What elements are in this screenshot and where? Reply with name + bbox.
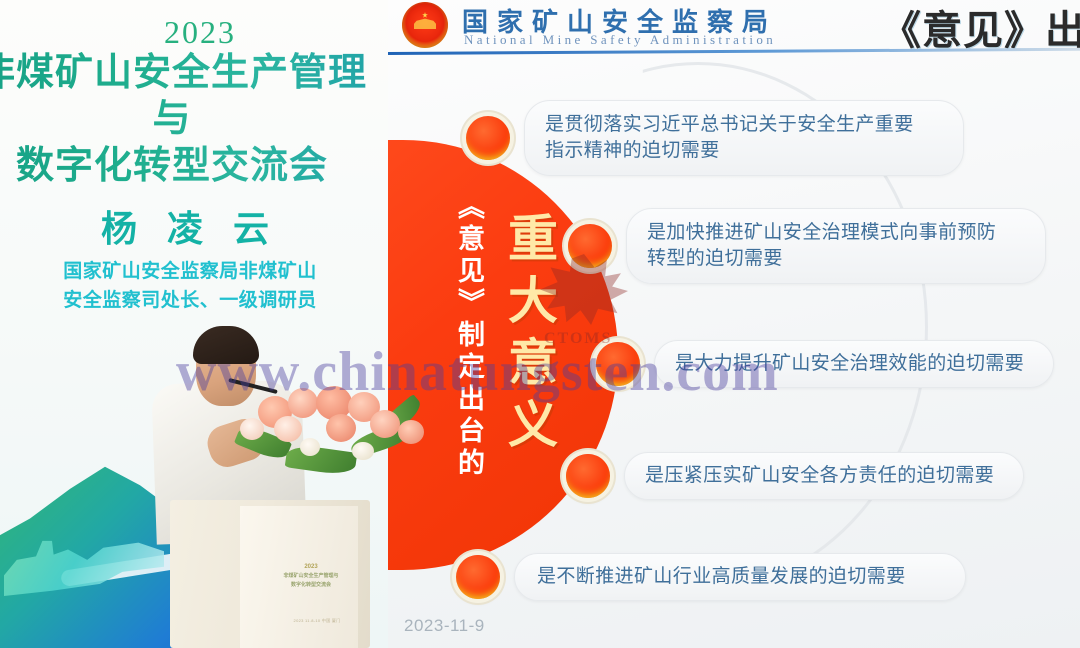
- presentation-photo-scene: 2023 非煤矿山安全生产管理与 数字化转型交流会 杨 凌 云 国家矿山安全监察…: [0, 0, 1080, 648]
- bullet-text-2: 是加快推进矿山安全治理模式向事前预防 转型的迫切需要: [626, 208, 1046, 284]
- bullet-item-2: 是加快推进矿山安全治理模式向事前预防 转型的迫切需要: [568, 208, 1046, 284]
- bullet-dot-icon: [456, 555, 500, 599]
- speaker-hair: [193, 326, 259, 364]
- speaker-and-podium: 2023 非煤矿山安全生产管理与 数字化转型交流会 2023 11.8-10 中…: [150, 330, 420, 648]
- bullet-text-1: 是贯彻落实习近平总书记关于安全生产重要 指示精神的迫切需要: [524, 100, 964, 176]
- national-emblem-icon: [402, 2, 448, 48]
- bullet-item-3: 是大力提升矿山安全治理效能的迫切需要: [596, 340, 1054, 388]
- presentation-slide: 国家矿山安全监察局 National Mine Safety Administr…: [388, 0, 1080, 648]
- center-label-small: 《意见》制定出台的: [440, 192, 482, 502]
- backdrop-year: 2023: [0, 14, 400, 51]
- org-name-en: National Mine Safety Administration: [464, 32, 776, 48]
- podium-title: 非煤矿山安全生产管理与 数字化转型交流会: [283, 573, 338, 588]
- podium-date-line: 2023 11.8-10 中国 厦门: [278, 618, 356, 624]
- bullet-item-1: 是贯彻落实习近平总书记关于安全生产重要 指示精神的迫切需要: [466, 100, 964, 176]
- bullet-dot-icon: [568, 224, 612, 268]
- flower-arrangement: [230, 386, 430, 486]
- backdrop-event-title: 非煤矿山安全生产管理与 数字化转型交流会: [0, 50, 382, 189]
- bullet-item-4: 是压紧压实矿山安全各方责任的迫切需要: [566, 452, 1024, 500]
- podium-logo-text: 2023 非煤矿山安全生产管理与 数字化转型交流会: [268, 562, 354, 589]
- bullet-text-3: 是大力提升矿山安全治理效能的迫切需要: [654, 340, 1054, 388]
- bullet-item-5: 是不断推进矿山行业高质量发展的迫切需要: [456, 553, 966, 601]
- backdrop-speaker-title: 国家矿山安全监察局非煤矿山 安全监察司处长、一级调研员: [0, 258, 380, 315]
- center-label-big: 重大意义: [492, 212, 554, 512]
- bullet-dot-icon: [466, 116, 510, 160]
- slide-header: 国家矿山安全监察局 National Mine Safety Administr…: [388, 0, 1080, 52]
- bullet-text-4: 是压紧压实矿山安全各方责任的迫切需要: [624, 452, 1024, 500]
- bullet-text-5: 是不断推进矿山行业高质量发展的迫切需要: [514, 553, 966, 601]
- bullet-dot-icon: [566, 454, 610, 498]
- bullet-dot-icon: [596, 342, 640, 386]
- backdrop-speaker-name: 杨 凌 云: [0, 200, 380, 252]
- podium-year: 2023: [268, 562, 354, 572]
